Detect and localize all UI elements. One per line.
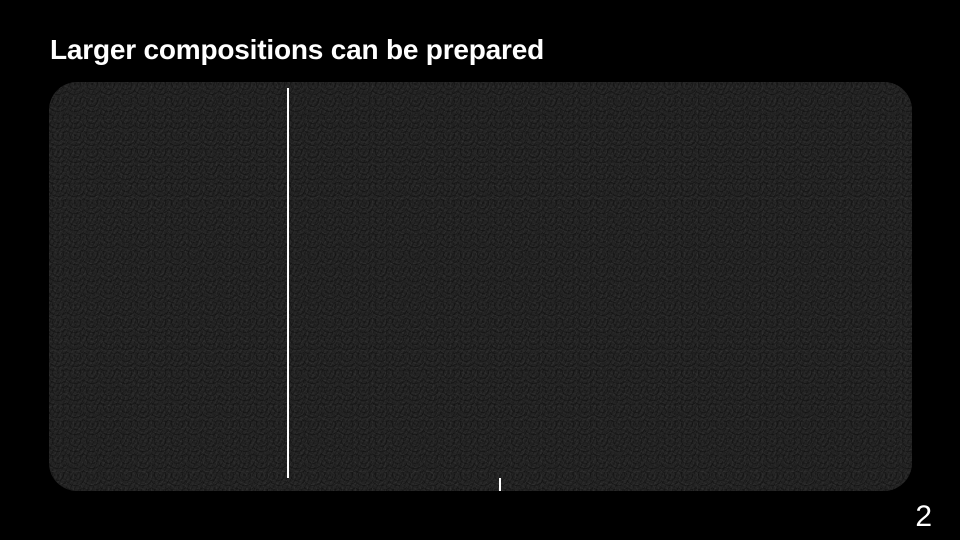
composition-canvas[interactable] [49,82,912,491]
page-title: Larger compositions can be prepared [50,33,544,67]
guide-line-2[interactable] [499,478,501,491]
slide-root: Larger compositions can be prepared 2 [0,0,960,540]
page-number: 2 [915,502,932,532]
guide-line-1[interactable] [287,88,289,478]
